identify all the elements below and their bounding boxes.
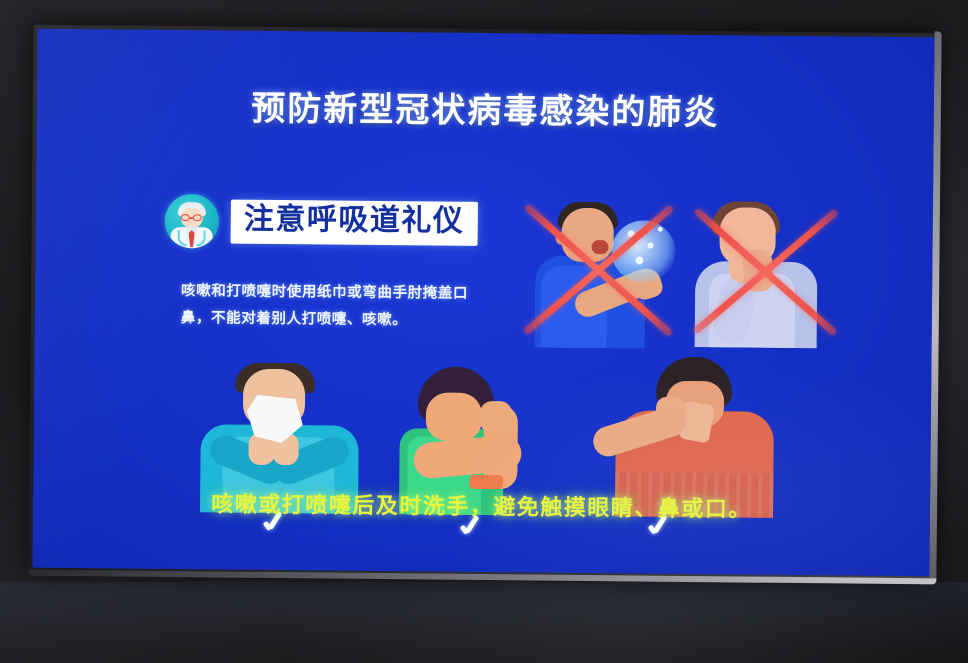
figure-ear [556,232,567,245]
droplet [628,230,635,237]
panel-cover-with-bare-hands [685,195,846,349]
panel-sneeze-open-uncovered [515,193,682,347]
illustration-bare-hands [685,195,846,349]
poster-title: 预防新型冠状病毒感染的肺炎 [37,79,934,137]
figure-open-mouth [591,240,608,254]
section-heading-text: 注意呼吸道礼仪 [244,204,465,239]
droplet [635,256,643,264]
section-heading-banner: 注意呼吸道礼仪 [231,200,478,246]
figure-hand-right [741,248,775,293]
poster-slide: 预防新型冠状病毒感染的肺炎 注意呼吸道礼仪 [32,29,934,577]
droplet [648,243,654,249]
room-scene: 预防新型冠状病毒感染的肺炎 注意呼吸道礼仪 [0,0,968,663]
droplet [658,227,663,232]
doctor-glasses-right [193,214,202,221]
doctor-avatar-icon [165,194,220,249]
section-header: 注意呼吸道礼仪 [165,194,478,251]
doctor-glasses-bridge [190,217,193,219]
figure-fist [480,401,512,433]
droplet [619,248,624,253]
figure-sleeve-cuff [469,475,503,489]
doctor-glasses-left [181,214,190,221]
figure-head [426,392,482,441]
floor-reflection [0,582,968,663]
bottom-caption: 咳嗽或打喷嚏后及时洗手，避免触摸眼睛、鼻或口。 [33,485,930,526]
body-paragraph: 咳嗽和打喷嚏时使用纸巾或弯曲手肘掩盖口鼻，不能对着别人打喷嚏、咳嗽。 [181,278,482,335]
figure-hand [656,397,686,423]
wall-mounted-display: 预防新型冠状病毒感染的肺炎 注意呼吸道礼仪 [28,25,939,582]
figure-head [561,208,614,262]
illustration-sneeze-open [515,193,682,347]
